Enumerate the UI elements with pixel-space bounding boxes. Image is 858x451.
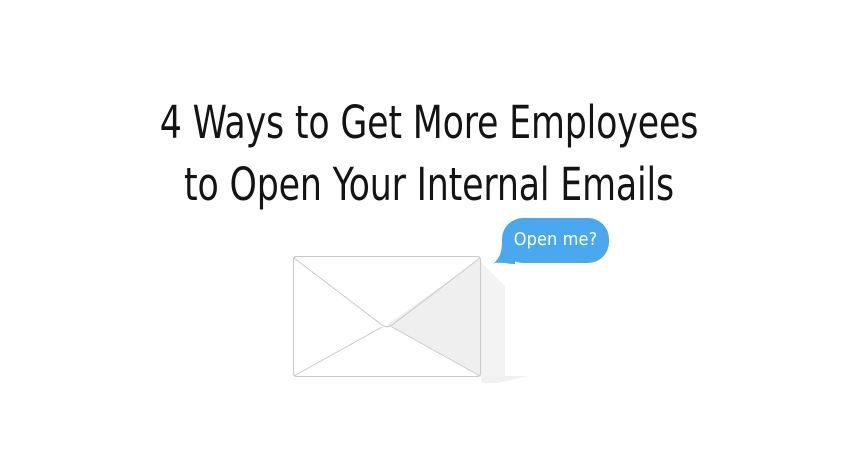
envelope-illustration: [0, 0, 858, 451]
page-title: 4 Ways to Get More Employees to Open You…: [0, 92, 858, 216]
header-graphic-canvas: 4 Ways to Get More Employees to Open You…: [0, 0, 858, 451]
envelope-crease-right: [392, 327, 480, 376]
speech-bubble-text: Open me?: [514, 231, 598, 250]
page-title-line-2: to Open Your Internal Emails: [60, 154, 798, 216]
envelope-body: [294, 257, 481, 377]
envelope-fold-left: [294, 258, 392, 327]
envelope-shadow: [481, 262, 528, 383]
page-title-line-1: 4 Ways to Get More Employees: [60, 92, 798, 154]
envelope-outline: [294, 257, 481, 377]
envelope-fold-right: [382, 258, 480, 327]
speech-bubble-tail: [493, 242, 515, 264]
envelope-flap-shade: [387, 258, 481, 376]
speech-bubble[interactable]: Open me?: [502, 218, 609, 263]
envelope-crease-left: [294, 327, 382, 376]
